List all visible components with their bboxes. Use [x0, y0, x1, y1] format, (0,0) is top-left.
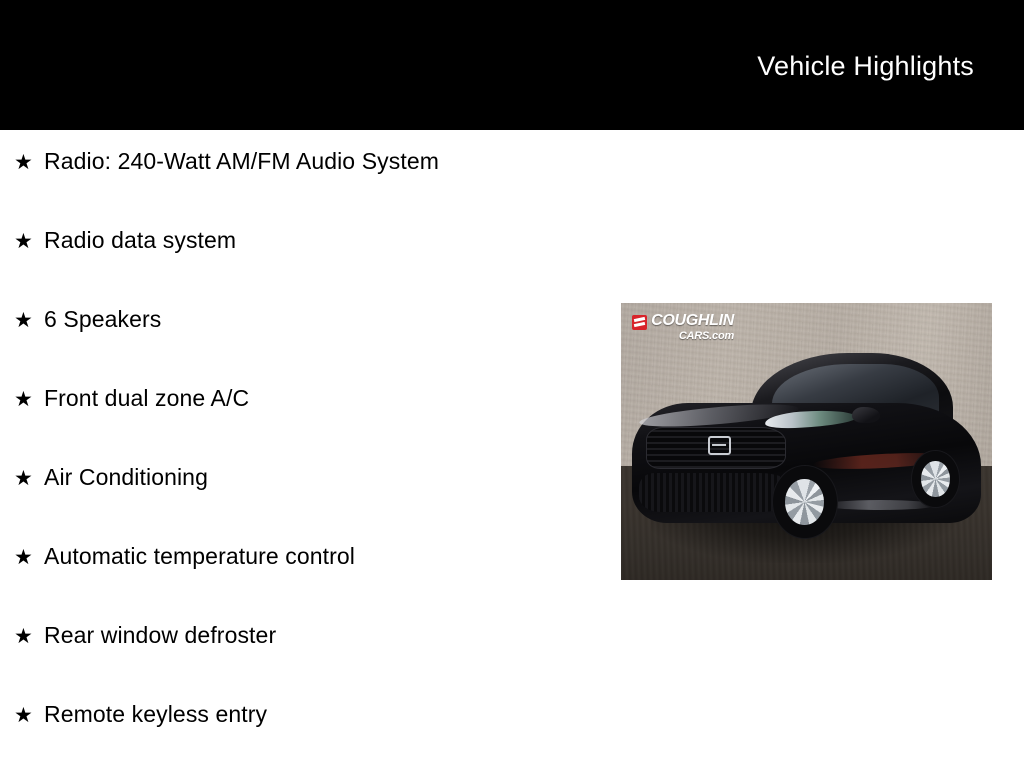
highlight-label: 6 Speakers [44, 306, 161, 333]
star-icon: ★ [14, 546, 44, 570]
vehicle-illustration [632, 353, 981, 547]
highlight-label: Air Conditioning [44, 464, 208, 491]
highlight-label: Front dual zone A/C [44, 385, 249, 412]
star-icon: ★ [14, 467, 44, 491]
watermark-line-1: COUGHLIN [651, 313, 734, 329]
highlight-label: Radio: 240-Watt AM/FM Audio System [44, 148, 439, 175]
highlight-label: Remote keyless entry [44, 701, 267, 728]
content-area: ★ Radio: 240-Watt AM/FM Audio System ★ R… [0, 130, 1024, 768]
list-item: ★ Radio data system [14, 227, 614, 306]
vehicle-grille [646, 427, 785, 470]
star-icon: ★ [14, 151, 44, 175]
star-icon: ★ [14, 309, 44, 333]
vehicle-side-mirror [852, 407, 880, 423]
dealer-watermark: COUGHLIN CARS.com [632, 313, 734, 342]
list-item: ★ Rear window defroster [14, 622, 614, 701]
highlight-label: Automatic temperature control [44, 543, 355, 570]
list-item: ★ 6 Speakers [14, 306, 614, 385]
vehicle-front-wheel [772, 465, 838, 539]
vehicle-front-bumper [639, 473, 792, 512]
star-icon: ★ [14, 704, 44, 728]
vehicle-rocker-trim [824, 500, 936, 510]
list-item: ★ Front dual zone A/C [14, 385, 614, 464]
vehicle-highlights-list: ★ Radio: 240-Watt AM/FM Audio System ★ R… [14, 148, 614, 780]
vehicle-photo: COUGHLIN CARS.com [621, 303, 992, 580]
watermark-text: COUGHLIN CARS.com [651, 313, 734, 342]
highlight-label: Radio data system [44, 227, 236, 254]
list-item: ★ Automatic temperature control [14, 543, 614, 622]
watermark-line-2: CARS.com [651, 331, 734, 342]
star-icon: ★ [14, 388, 44, 412]
list-item: ★ Remote keyless entry [14, 701, 614, 780]
star-icon: ★ [14, 625, 44, 649]
header-band: Vehicle Highlights [0, 0, 1024, 130]
list-item: ★ Air Conditioning [14, 464, 614, 543]
highlight-label: Rear window defroster [44, 622, 276, 649]
star-icon: ★ [14, 230, 44, 254]
honda-emblem-icon [708, 436, 731, 455]
vehicle-rear-wheel [911, 450, 960, 508]
coughlin-logo-icon [632, 315, 647, 330]
list-item: ★ Radio: 240-Watt AM/FM Audio System [14, 148, 614, 227]
page-title: Vehicle Highlights [757, 50, 974, 82]
